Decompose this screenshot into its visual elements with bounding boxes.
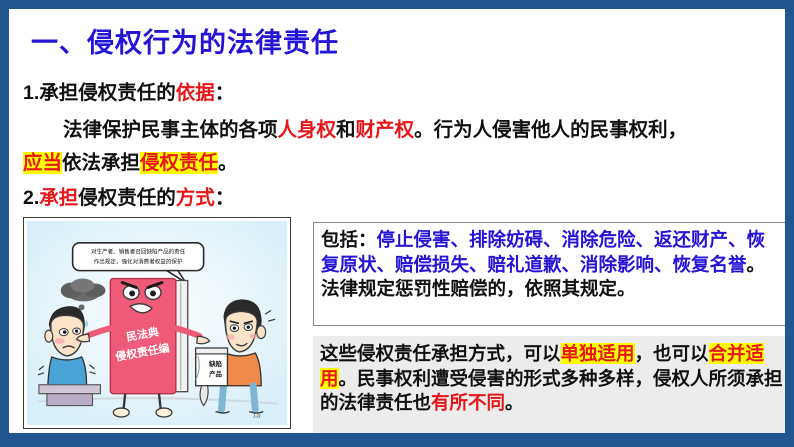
para-line1-red-personal-rights: 人身权 [278, 119, 337, 141]
para-line2-b: 。 [218, 152, 238, 174]
heading-item-1: 1.承担侵权责任的依据： [23, 76, 234, 105]
defective-product-box: 缺陷 产品 [196, 348, 228, 386]
box-b-seg4: 。 [505, 392, 524, 413]
page-title: 一、侵权行为的法律责任 [31, 21, 339, 60]
para-line1-c: 。行为人侵害他人的民事权利， [414, 119, 687, 141]
product-box-label-line1: 缺陷 [208, 359, 222, 368]
heading-item-2: 2.承担侵权责任的方式： [23, 181, 234, 210]
illustration-frame: 对生产者、销售者召回缺陷产品的责任 作出规定，强化对消费者权益的保护 [23, 217, 291, 429]
cartoon-svg: 对生产者、销售者召回缺陷产品的责任 作出规定，强化对消费者权益的保护 [27, 221, 287, 425]
paragraph-line-1: 法律保护民事主体的各项人身权和财产权。行为人侵害他人的民事权利， [23, 113, 687, 142]
artist-signature: Lu [252, 411, 261, 419]
box-a-methods-list: 停止侵害、排除妨碍、消除危险、返还财产、恢复原状、赔偿损失、赔礼道歉、消除影响、… [321, 229, 765, 275]
para-line1-a: 法律保护民事主体的各项 [63, 119, 278, 141]
para-line2-highlight-yingdang: 应当 [23, 152, 62, 174]
item2-number: 2. [23, 187, 39, 209]
slide-canvas: 一、侵权行为的法律责任 1.承担侵权责任的依据： 法律保护民事主体的各项人身权和… [9, 9, 785, 433]
application-note-box: 这些侵权责任承担方式，可以单独适用，也可以合并适用。民事权利遭受侵害的形式多种多… [313, 336, 785, 433]
para-line1-red-property-rights: 财产权 [356, 119, 415, 141]
product-box-label-line2: 产品 [209, 369, 222, 378]
box-b-red-differ: 有所不同 [431, 392, 505, 413]
item2-red-fangshi: 方式 [176, 187, 215, 209]
box-b-seg1: 这些侵权责任承担方式，可以 [320, 343, 561, 364]
bubble-text-line2: 作出规定，强化对消费者权益的保护 [94, 258, 183, 266]
para-line1-b: 和 [336, 119, 356, 141]
liability-methods-box: 包括：停止侵害、排除妨碍、消除危险、返还财产、恢复原状、赔偿损失、赔礼道歉、消除… [313, 222, 785, 326]
item1-number: 1. [23, 82, 39, 104]
box-b-seg2: ，也可以 [635, 343, 709, 364]
illustration-cartoon: 对生产者、销售者召回缺陷产品的责任 作出规定，强化对消费者权益的保护 [27, 221, 287, 425]
item2-text: 侵权责任的 [78, 187, 176, 209]
box-a-lead: 包括： [321, 229, 377, 250]
box-b-highlight-separate-use: 单独适用 [561, 343, 635, 364]
bubble-text-line1: 对生产者、销售者召回缺陷产品的责任 [91, 248, 186, 256]
para-line2-a: 依法承担 [62, 152, 140, 174]
para-line2-highlight-liability: 侵权责任 [140, 152, 218, 174]
item1-colon: ： [215, 82, 235, 104]
slide-frame: 一、侵权行为的法律责任 1.承担侵权责任的依据： 法律保护民事主体的各项人身权和… [0, 0, 794, 447]
item1-keyword: 依据 [176, 82, 215, 104]
item2-colon: ： [215, 187, 235, 209]
podium [39, 385, 101, 406]
item1-text: 承担侵权责任的 [39, 82, 176, 104]
box-b-seg3: 。民事权利遭受侵害的形式多种多样，侵权人所须承担的法律责任也 [320, 368, 783, 414]
paragraph-line-2: 应当依法承担侵权责任。 [23, 146, 238, 175]
item2-red-chengdan: 承担 [39, 187, 78, 209]
